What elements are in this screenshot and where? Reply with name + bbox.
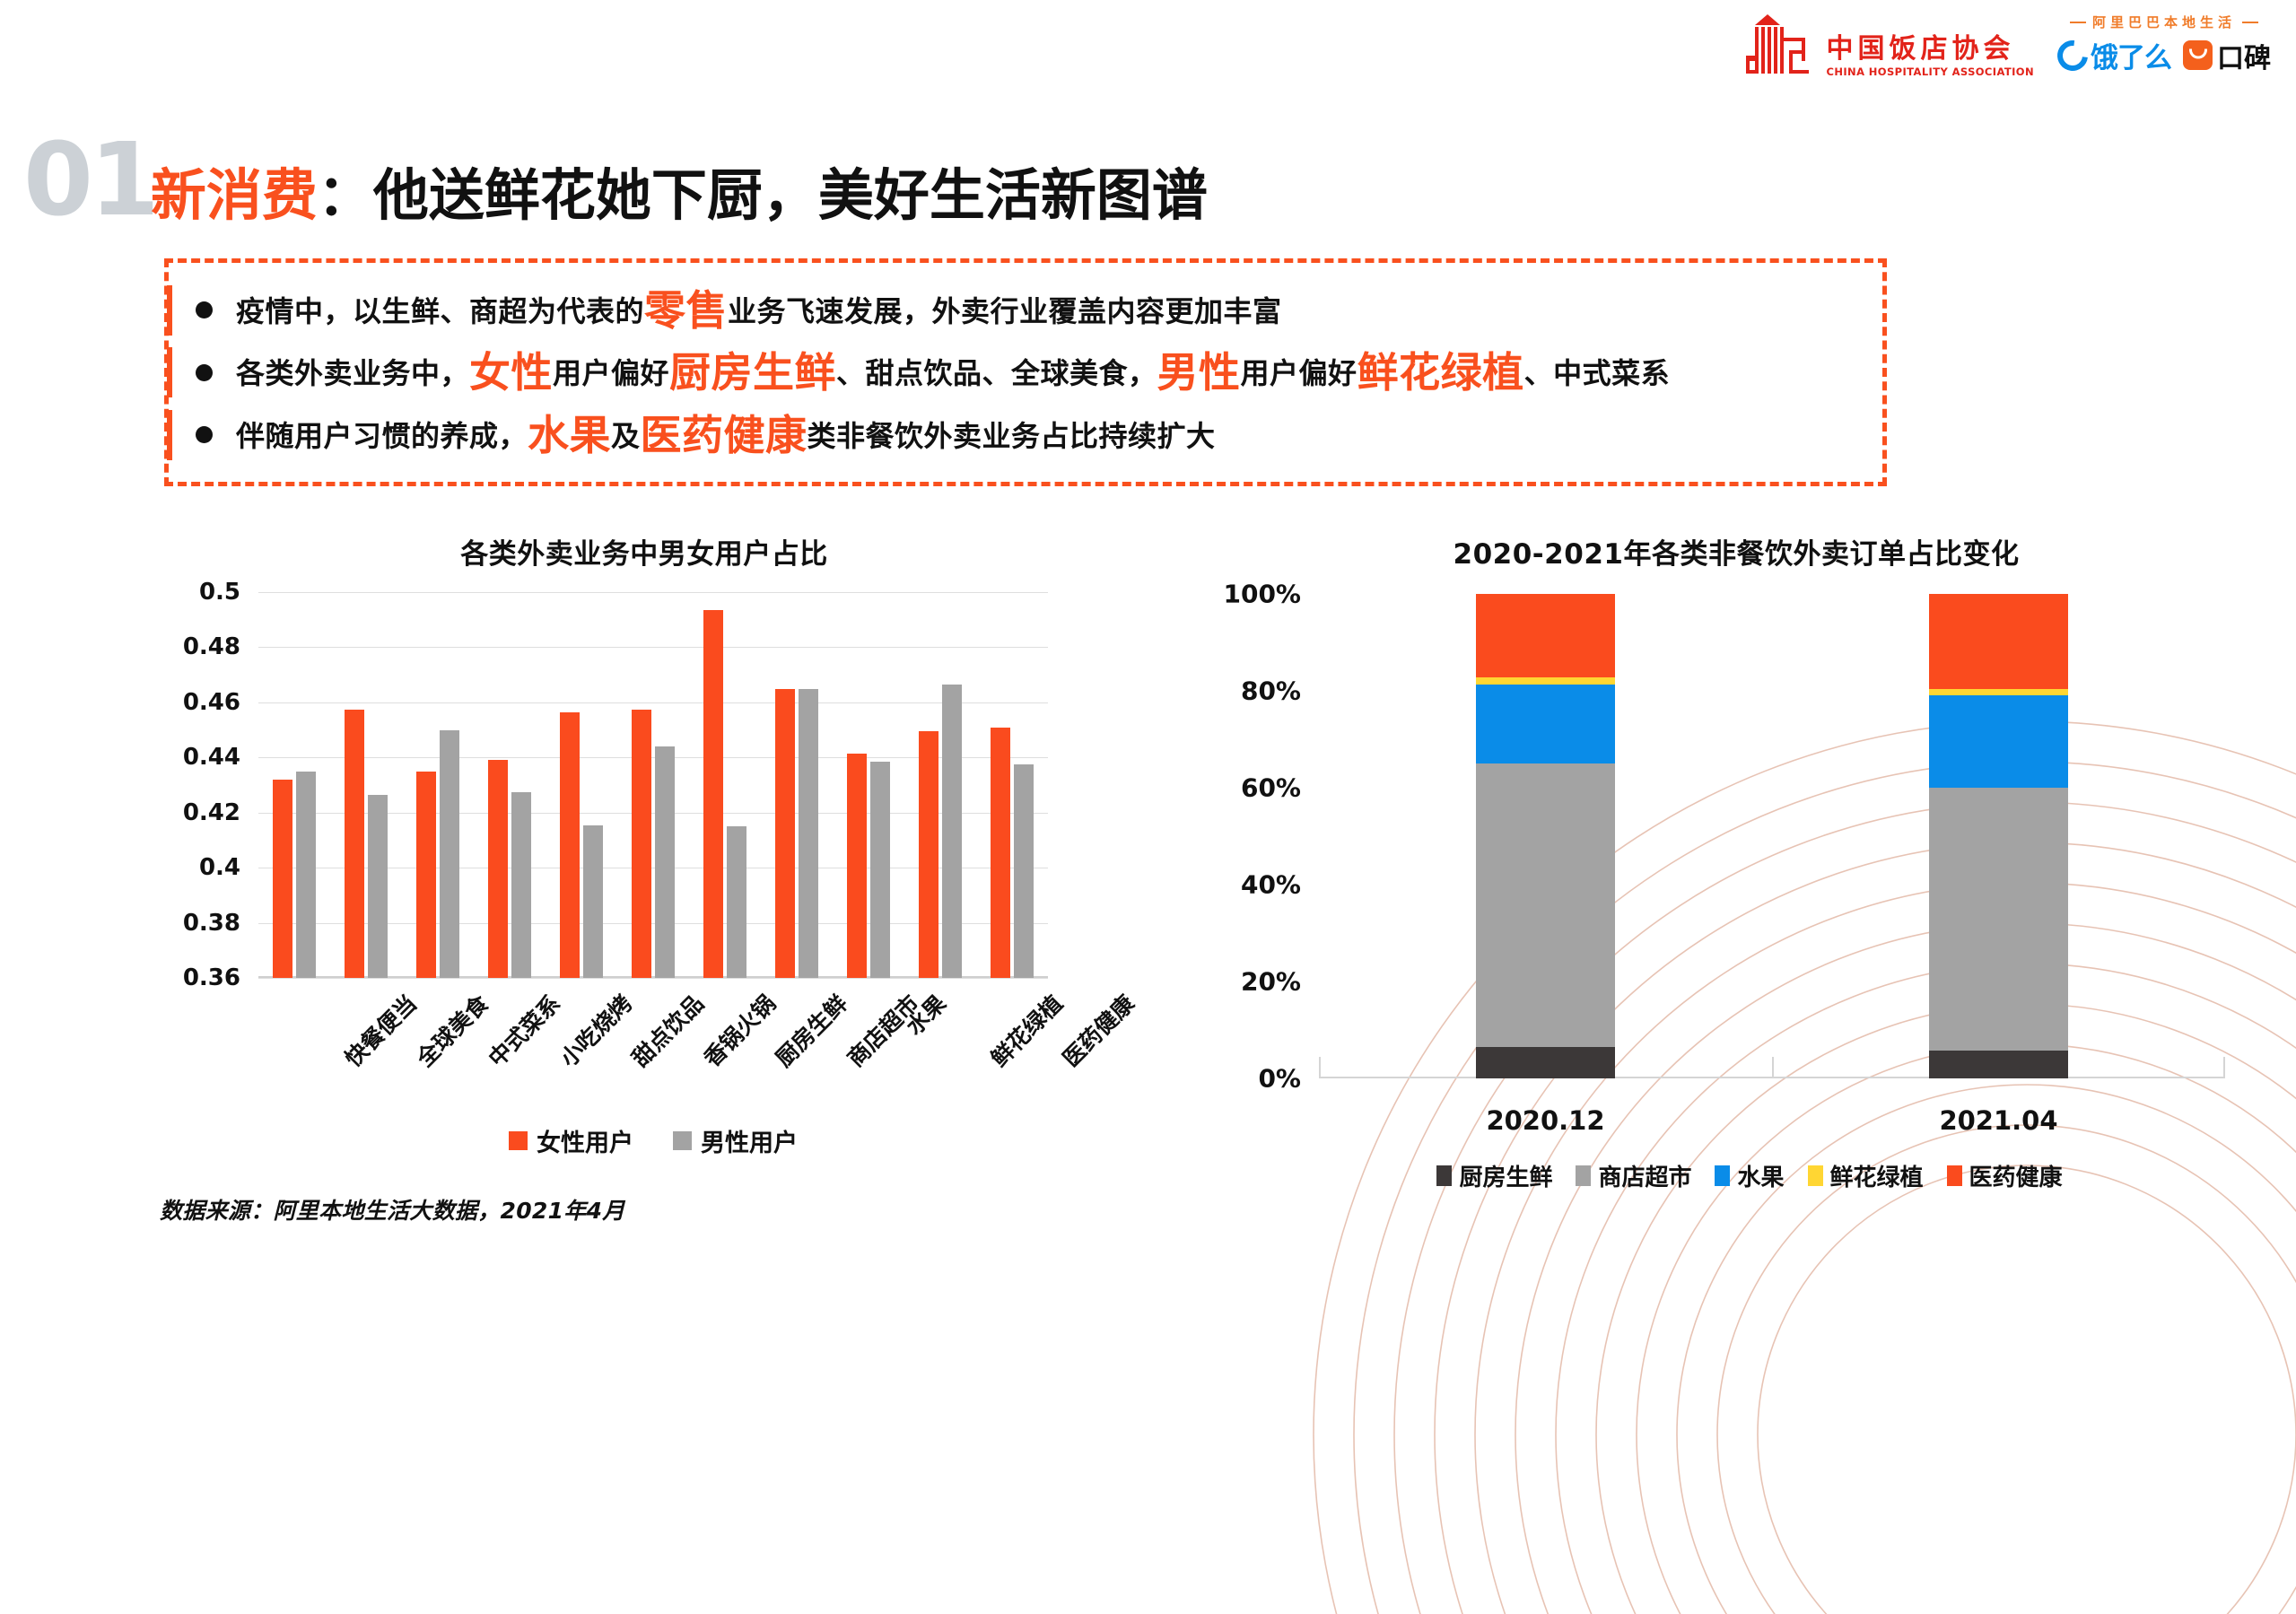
left-chart-bar [345, 710, 364, 978]
alibaba-local-services-logo: 阿里巴巴本地生活 饿了么 口碑 [2057, 13, 2271, 75]
left-chart-bar [296, 772, 316, 978]
china-hospitality-association-logo: 中国饭店协会 CHINA HOSPITALITY ASSOCIATION [1744, 11, 2034, 77]
cha-chinese-name: 中国饭店协会 [1827, 36, 2015, 63]
legend-label: 鲜花绿植 [1830, 1159, 1924, 1192]
left-chart-x-tick-label: 中式菜系 [480, 987, 566, 1073]
left-chart-x-axis: 快餐便当全球美食中式菜系小吃烧烤甜点饮品香锅火锅厨房生鲜商店超市水果鲜花绿植医药… [258, 987, 1048, 1121]
right-chart-legend-item[interactable]: 医药健康 [1947, 1159, 2063, 1192]
left-chart-y-tick-label: 0.5 [199, 579, 240, 606]
left-chart-gridline [258, 647, 1048, 648]
right-chart-x-axis: 2020.122021.04 [1319, 1105, 2225, 1148]
left-chart-y-tick-label: 0.48 [183, 633, 240, 660]
eleme-logo: 饿了么 [2057, 35, 2171, 75]
right-chart-axis-tick [1319, 1057, 1321, 1078]
title-main: ：他送鲜花她下厨，美好生活新图谱 [318, 168, 1208, 223]
right-chart-stacked-bar [1476, 594, 1615, 1078]
left-chart-bar [583, 825, 603, 978]
left-chart-bar [703, 610, 723, 978]
chart-gender-share: 各类外卖业务中男女用户占比 0.50.480.460.440.420.40.38… [160, 531, 1129, 1213]
title-highlight: 新消费 [151, 168, 318, 223]
right-chart-bar-segment [1929, 695, 2068, 788]
left-chart-y-axis: 0.50.480.460.440.420.40.380.36 [160, 592, 253, 978]
left-chart-gridline [258, 702, 1048, 703]
left-chart-gridline [258, 978, 1048, 979]
source-note: 数据来源：阿里本地生活大数据，2021年4月 [160, 1193, 625, 1226]
right-chart-y-tick-label: 0% [1258, 1064, 1301, 1094]
cha-english-name: CHINA HOSPITALITY ASSOCIATION [1827, 67, 2034, 78]
bullet-row: 各类外卖业务中，女性用户偏好厨房生鲜、甜点饮品、全球美食，男性用户偏好鲜花绿植、… [196, 352, 1882, 393]
right-chart-bar-segment [1929, 689, 2068, 695]
cha-building-icon [1744, 11, 1818, 77]
left-chart-x-tick-label: 甜点饮品 [624, 987, 710, 1073]
bullet-segment-highlight: 医药健康 [641, 411, 808, 459]
key-findings-box: 疫情中，以生鲜、商超为代表的零售业务飞速发展，外卖行业覆盖内容更加丰富各类外卖业… [164, 258, 1887, 486]
right-chart-legend-item[interactable]: 鲜花绿植 [1808, 1159, 1924, 1192]
koubei-label: 口碑 [2217, 36, 2271, 75]
left-chart-bar [870, 762, 890, 978]
right-chart-plot [1319, 594, 2225, 1078]
left-chart-bar [560, 712, 580, 978]
legend-label: 男性用户 [701, 1123, 798, 1158]
koubei-logo: 口碑 [2183, 36, 2271, 75]
eleme-e-icon [2051, 34, 2094, 77]
left-chart-x-tick-label: 医药健康 [1054, 987, 1140, 1073]
right-chart-bar-segment [1476, 677, 1615, 685]
chart-order-share: 2020-2021年各类非餐饮外卖订单占比变化 100%80%60%40%20%… [1184, 531, 2288, 1213]
bullet-dot-icon [196, 301, 213, 318]
left-chart-x-tick-label: 厨房生鲜 [767, 987, 853, 1073]
bullet-dot-icon [196, 364, 213, 381]
right-chart-x-tick-label: 2020.12 [1486, 1105, 1604, 1136]
right-chart-bar-segment [1929, 1051, 2068, 1078]
legend-label: 商店超市 [1598, 1159, 1691, 1192]
right-chart-y-tick-label: 60% [1241, 773, 1301, 803]
legend-label: 医药健康 [1969, 1159, 2063, 1192]
left-chart-bar [488, 760, 508, 978]
bullet-segment: 用户偏好 [553, 356, 669, 390]
left-chart-bar [368, 795, 388, 978]
alibaba-tagline: 阿里巴巴本地生活 [2092, 13, 2236, 31]
bullet-segment-highlight: 男性 [1157, 348, 1241, 397]
left-chart-y-tick-label: 0.38 [183, 910, 240, 937]
left-chart-bar [775, 689, 795, 979]
left-chart-bar [919, 731, 938, 978]
right-chart-stacked-bar [1929, 594, 2068, 1078]
bullet-segment: 各类外卖业务中， [236, 356, 469, 390]
left-chart-bar [727, 826, 746, 978]
bullet-row: 疫情中，以生鲜、商超为代表的零售业务飞速发展，外卖行业覆盖内容更加丰富 [196, 290, 1882, 331]
bullet-segment-highlight: 水果 [528, 411, 611, 459]
legend-swatch-icon [1436, 1165, 1452, 1186]
right-chart-bar-segment [1476, 1047, 1615, 1078]
right-chart-legend-item[interactable]: 水果 [1715, 1159, 1784, 1192]
bullet-segment: 用户偏好 [1241, 356, 1358, 390]
koubei-smile-icon [2183, 40, 2213, 70]
right-chart-bar-segment [1929, 788, 2068, 1051]
legend-label: 女性用户 [537, 1123, 633, 1158]
left-chart-bar [942, 685, 962, 978]
left-chart-legend-item[interactable]: 女性用户 [509, 1123, 633, 1158]
bullet-row: 伴随用户习惯的养成，水果及医药健康类非餐饮外卖业务占比持续扩大 [196, 414, 1882, 456]
bullet-segment: 疫情中，以生鲜、商超为代表的 [236, 294, 644, 328]
right-chart-legend: 厨房生鲜商店超市水果鲜花绿植医药健康 [1265, 1159, 2234, 1192]
left-chart-bar [1014, 764, 1034, 978]
legend-swatch-icon [1947, 1165, 1962, 1186]
legend-swatch-icon [1576, 1165, 1591, 1186]
eleme-label: 饿了么 [2091, 35, 2171, 75]
right-chart-legend-item[interactable]: 商店超市 [1576, 1159, 1691, 1192]
bullet-segment-highlight: 女性 [469, 348, 553, 397]
legend-swatch-icon [1808, 1165, 1823, 1186]
legend-swatch-icon [509, 1131, 528, 1150]
left-chart-bar [991, 728, 1010, 979]
right-chart-bar-segment [1476, 763, 1615, 1047]
right-chart-y-tick-label: 40% [1241, 870, 1301, 900]
left-chart-title: 各类外卖业务中男女用户占比 [160, 531, 1129, 571]
left-chart-y-tick-label: 0.44 [183, 744, 240, 771]
left-chart-bar [655, 746, 675, 978]
bullet-text: 伴随用户习惯的养成，水果及医药健康类非餐饮外卖业务占比持续扩大 [236, 414, 1216, 456]
right-chart-y-tick-label: 20% [1241, 967, 1301, 997]
bullet-segment: 业务飞速发展，外卖行业覆盖内容更加丰富 [728, 294, 1282, 328]
right-chart-bar-segment [1476, 594, 1615, 677]
bullet-segment-highlight: 厨房生鲜 [669, 348, 836, 397]
bullet-segment: 、甜点饮品、全球美食， [836, 356, 1157, 390]
bullet-segment: 、中式菜系 [1524, 356, 1671, 390]
left-chart-x-tick-label: 全球美食 [408, 987, 494, 1073]
right-chart-y-tick-label: 100% [1223, 580, 1301, 609]
section-number: 01 [23, 136, 156, 225]
bullet-tick-marker [167, 410, 172, 460]
bullet-tick-marker [167, 347, 172, 397]
bullet-text: 各类外卖业务中，女性用户偏好厨房生鲜、甜点饮品、全球美食，男性用户偏好鲜花绿植、… [236, 352, 1670, 393]
left-chart-bar [847, 754, 867, 978]
left-chart-y-tick-label: 0.42 [183, 799, 240, 826]
header-logo-bar: 中国饭店协会 CHINA HOSPITALITY ASSOCIATION 阿里巴… [1744, 11, 2271, 77]
left-chart-y-tick-label: 0.36 [183, 964, 240, 991]
page-title: 01 新消费 ：他送鲜花她下厨，美好生活新图谱 [23, 136, 1208, 225]
left-chart-plot [258, 592, 1048, 978]
bullet-segment: 及 [611, 419, 641, 453]
left-chart-legend-item[interactable]: 男性用户 [673, 1123, 798, 1158]
left-chart-bar [273, 780, 292, 978]
bullet-dot-icon [196, 426, 213, 443]
bullet-segment: 伴随用户习惯的养成， [236, 419, 528, 453]
left-chart-x-tick-label: 小吃烧烤 [552, 987, 638, 1073]
bullet-segment-highlight: 零售 [644, 286, 728, 335]
tagline-rule-left [2070, 22, 2086, 23]
bullet-segment-highlight: 鲜花绿植 [1358, 348, 1524, 397]
left-chart-bar [440, 730, 459, 978]
legend-swatch-icon [673, 1131, 692, 1150]
left-chart-x-tick-label: 香锅火锅 [695, 987, 781, 1073]
left-chart-y-tick-label: 0.4 [199, 854, 240, 881]
left-chart-x-tick-label: 快餐便当 [336, 987, 423, 1073]
bullet-text: 疫情中，以生鲜、商超为代表的零售业务飞速发展，外卖行业覆盖内容更加丰富 [236, 290, 1282, 331]
right-chart-x-tick-label: 2021.04 [1939, 1105, 2057, 1136]
right-chart-y-tick-label: 80% [1241, 676, 1301, 706]
right-chart-axis-tick [2223, 1057, 2225, 1078]
right-chart-title: 2020-2021年各类非餐饮外卖订单占比变化 [1184, 531, 2288, 571]
bullet-tick-marker [167, 285, 172, 336]
left-chart-y-tick-label: 0.46 [183, 689, 240, 716]
right-chart-axis-tick [1772, 1057, 1774, 1078]
alibaba-tagline-row: 阿里巴巴本地生活 [2070, 13, 2258, 31]
legend-swatch-icon [1715, 1165, 1730, 1186]
legend-label: 厨房生鲜 [1459, 1159, 1552, 1192]
bullet-segment: 类非餐饮外卖业务占比持续扩大 [808, 419, 1216, 453]
left-chart-legend: 女性用户男性用户 [258, 1123, 1048, 1158]
tagline-rule-right [2242, 22, 2258, 23]
right-chart-legend-item[interactable]: 厨房生鲜 [1436, 1159, 1552, 1192]
left-chart-x-tick-label: 鲜花绿植 [982, 987, 1069, 1073]
left-chart-bar [511, 792, 531, 978]
right-chart-y-axis: 100%80%60%40%20%0% [1184, 594, 1312, 1078]
left-chart-bar [632, 710, 651, 978]
right-chart-bar-segment [1929, 594, 2068, 689]
left-chart-bar [416, 772, 436, 978]
right-chart-bar-segment [1476, 685, 1615, 763]
left-chart-gridline [258, 592, 1048, 593]
left-chart-bar [799, 689, 818, 979]
legend-label: 水果 [1737, 1159, 1784, 1192]
